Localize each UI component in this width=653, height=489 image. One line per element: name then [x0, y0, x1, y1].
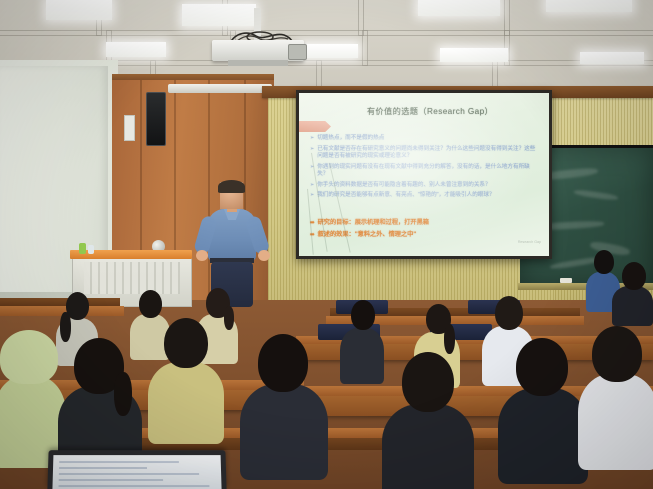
- slide-bullet-list: ➢ 切题热点，而不是假的热点 ➢ 已有文献是否存在有研究意义的问题尚未得到关注？…: [310, 135, 538, 203]
- wall-speaker: [146, 92, 166, 146]
- audience-head: [495, 296, 523, 330]
- audience-head: [516, 338, 568, 396]
- slide-bullet-item: ➢ 切题热点，而不是假的热点: [310, 135, 538, 142]
- audience-head: [402, 352, 454, 412]
- ceiling-light-panel: [46, 0, 112, 20]
- slide-watermark: Research Gap: [518, 240, 541, 244]
- air-vent: [168, 84, 272, 93]
- audience-body: [498, 388, 588, 484]
- audience-member: [612, 262, 653, 322]
- audience-head: [351, 300, 375, 330]
- audience-head: [592, 326, 642, 382]
- audience-head: [594, 250, 614, 274]
- ceiling-light-panel: [106, 42, 166, 57]
- projection-screen: 有价值的选题（Research Gap） ➢ 切题热点，而不是假的热点 ➢ 已有…: [296, 90, 552, 259]
- audience-body: [340, 328, 384, 384]
- bullet-text: 切题热点，而不是假的热点: [317, 135, 538, 142]
- presenter-left-hand: [196, 250, 208, 261]
- bullet-marker-icon: ➢: [310, 135, 314, 142]
- audience-member: [578, 326, 653, 466]
- slide-tag-banner: [299, 121, 331, 132]
- bullet-marker-icon: ➢: [310, 192, 314, 199]
- slide-title: 有价值的选题（Research Gap）: [325, 105, 535, 117]
- ceiling-light-panel: [546, 0, 632, 12]
- slide-bullet-item: ➢ 你遇到的现实问题有没有在现有文献中得到充分的解答，没有的话，是什么地方有所缺…: [310, 164, 538, 179]
- audience-body: [612, 286, 653, 326]
- slide-bullet-item: ➢ 我们的研究是否能够有点新意、有亮点、"惊艳的"，才能吸引人的眼球？: [310, 192, 538, 199]
- audience-body: [240, 384, 328, 480]
- bullet-text: 你遇到的现实问题有没有在现有文献中得到充分的解答，没有的话，是什么地方有所缺失？: [317, 164, 538, 179]
- audience-head: [258, 334, 308, 392]
- green-bottle[interactable]: [79, 243, 86, 254]
- audience-head: [622, 262, 646, 290]
- audience-ponytail: [444, 324, 455, 354]
- audience-member: [0, 330, 66, 460]
- highlight-text: 叙述的效果："意料之外、情理之中": [318, 231, 417, 239]
- projector-lens: [288, 44, 307, 60]
- audience-member: [58, 338, 142, 468]
- audience-head: [164, 318, 208, 368]
- audience-body: [148, 362, 224, 444]
- laptop-screen[interactable]: [52, 455, 221, 489]
- audience-head: [0, 330, 58, 384]
- presenter-hair: [218, 180, 245, 193]
- bullet-text: 已有文献是否存在有研究意义的问题尚未得到关注？为什么这些问题没有得到关注？这些问…: [317, 146, 538, 161]
- bullet-marker-icon: ➢: [310, 182, 314, 189]
- slide-bullet-item: ➢ 你手头的资料数据是否有可能隐含着有趣的、别人未曾注意到的关系？: [310, 182, 538, 189]
- audience-head: [139, 290, 162, 318]
- projector-underside: [228, 60, 288, 66]
- laptop[interactable]: [47, 450, 226, 489]
- audience-member: [240, 334, 328, 474]
- audience-member: [340, 300, 384, 378]
- presentation-slide: 有价值的选题（Research Gap） ➢ 切题热点，而不是假的热点 ➢ 已有…: [299, 93, 549, 256]
- slide-highlight-item: ➠ 叙述的效果："意料之外、情理之中": [310, 231, 536, 239]
- audience-ponytail: [114, 372, 132, 416]
- audience-member: [498, 338, 588, 478]
- audience-body: [382, 404, 474, 489]
- ceiling-light-panel: [182, 4, 256, 26]
- audience-ponytail: [224, 306, 234, 330]
- ceiling-light-panel: [580, 52, 644, 64]
- audience-member: [148, 318, 224, 438]
- presenter-right-hand: [258, 250, 270, 261]
- bullet-text: 我们的研究是否能够有点新意、有亮点、"惊艳的"，才能吸引人的眼球？: [317, 192, 538, 199]
- audience-member: [382, 352, 474, 489]
- wall-switch-plate[interactable]: [124, 115, 135, 141]
- bullet-text: 你手头的资料数据是否有可能隐含着有趣的、别人未曾注意到的关系？: [317, 182, 538, 189]
- highlight-text: 研究的目标：展示机理和过程，打开黑箱: [318, 219, 429, 227]
- ceiling-light-panel: [440, 48, 508, 62]
- ceiling-light-panel: [418, 0, 500, 16]
- board-eraser[interactable]: [560, 278, 572, 283]
- classroom-lecture-photo: 有价值的选题（Research Gap） ➢ 切题热点，而不是假的热点 ➢ 已有…: [0, 0, 653, 489]
- ceiling-light-panel: [300, 44, 358, 58]
- slide-bullet-item: ➢ 已有文献是否存在有研究意义的问题尚未得到关注？为什么这些问题没有得到关注？这…: [310, 146, 538, 161]
- water-bottle[interactable]: [88, 245, 94, 254]
- audience-body: [578, 374, 653, 470]
